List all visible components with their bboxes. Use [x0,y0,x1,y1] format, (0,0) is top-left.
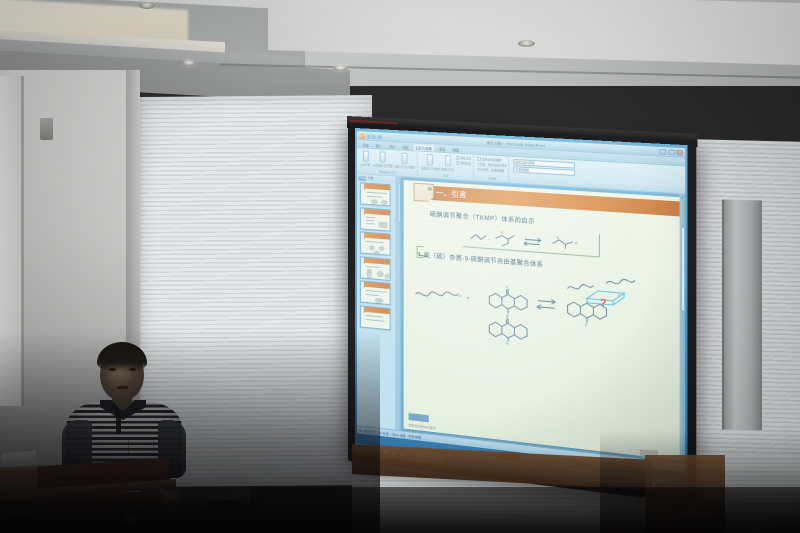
rehearse-timings-icon [456,156,460,160]
svg-text:R: R [557,235,559,239]
powerpoint-window[interactable]: 演示文稿1 - Microsoft PowerPoint 开始 插入 设计 动画… [357,131,685,472]
record-narration-icon [456,161,460,165]
rehearse-timings-item[interactable]: 排练计时 [456,156,471,161]
from-current-slide-icon[interactable] [379,151,385,162]
group-name-monitors: 监视器 [488,176,496,181]
tab-design[interactable]: 设计 [386,143,397,150]
powerpoint-body: 幻灯片 大纲 [357,174,685,463]
slide-subtitle: 硫酮调节聚合（TKMP）体系的启示 [430,209,535,226]
slide-stage[interactable]: 一、引言 硫酮调节聚合（TKMP）体系的启示 + R [401,177,686,463]
tab-view[interactable]: 视图 [450,146,462,153]
presenter-mouth [117,386,128,389]
slide-thumbnail-panel[interactable]: 幻灯片 大纲 [357,174,397,430]
conference-room-scene: 演示文稿1 - Microsoft PowerPoint 开始 插入 设计 动画… [0,0,800,533]
presenter-hair [97,342,147,372]
wall-pillar-edge [21,76,24,406]
tab-slideshow[interactable]: 幻灯片放映 [413,144,434,151]
ceiling-panel [268,0,800,66]
slide-footer-placeholder [409,413,429,422]
language-label: 中文(中国) [408,434,421,440]
slide-title-tag-shape [414,183,434,203]
setup-slideshow-label: 设置幻灯片放映 [421,165,439,170]
spot-light-icon [518,40,535,47]
rehearse-timings-label: 排练计时 [460,156,471,161]
svg-text:O: O [585,322,588,327]
setup-options-list[interactable]: 排练计时 录制旁白 [456,155,471,166]
undo-icon[interactable] [372,134,376,138]
display-on-label: 显示位置：主要监视器 [477,167,504,173]
reaction-scheme-main: R + S O [412,259,655,361]
presenter-view-checkbox-icon[interactable] [477,157,481,161]
display-on-item[interactable]: 显示位置：主要监视器 [477,167,507,173]
spot-light-icon [182,60,196,66]
slide-thumbnail[interactable] [360,305,391,330]
tab-animations[interactable]: 动画 [400,143,411,150]
thumbnail-list[interactable] [357,180,396,430]
slide-title-dot-icon [428,187,432,191]
foreground-shadow-left [0,500,260,533]
window-title: 演示文稿1 - Microsoft PowerPoint [486,139,545,147]
quick-access-toolbar[interactable] [359,133,381,140]
svg-text:R: R [459,294,461,298]
presenter-eye-left [109,368,116,371]
record-narration-label: 录制旁白 [460,161,471,166]
ribbon-group-setup: 设置幻灯片放映 隐藏幻灯片 排练计时 [420,153,474,180]
hide-slide-label: 隐藏幻灯片 [441,167,454,172]
projection-screen: 演示文稿1 - Microsoft PowerPoint 开始 插入 设计 动画… [355,128,687,495]
presenter-eye-right [129,368,136,371]
ribbon-group-start-slideshow: 从头开始 从当前幻灯片开始 自定义幻灯片放映 开始放映幻灯片 [359,149,418,176]
wall-column-right [722,199,762,430]
monitor-fields[interactable]: 使用当前分辨率 主要监视器 [513,158,575,176]
scroll-up-icon[interactable] [680,196,682,198]
maximize-button[interactable] [668,149,675,155]
redo-icon[interactable] [377,135,381,139]
slide-thumbnail[interactable] [360,231,391,255]
svg-text:S: S [506,285,508,289]
current-slide[interactable]: 一、引言 硫酮调节聚合（TKMP）体系的启示 + R [404,180,680,460]
hide-slide-icon[interactable] [445,155,451,167]
question-mark-annotation: ? [600,297,607,309]
slide-thumbnail[interactable] [360,280,391,305]
presenter [66,346,182,476]
custom-slideshow-icon[interactable] [402,153,408,164]
slide-thumbnail[interactable] [360,182,391,206]
tab-insert[interactable]: 插入 [373,142,384,149]
slide-thumbnail[interactable] [360,207,391,231]
group-name-setup: 设置 [443,173,448,177]
group-name-start-slideshow: 开始放映幻灯片 [379,169,396,174]
spot-light-icon [333,65,348,71]
slide-scrollbar[interactable] [680,194,686,463]
setup-slideshow-icon[interactable] [427,154,433,166]
ribbon-group-monitors: 使用演示者视图 分辨率：使用当前分辨率 显示位置：主要监视器 监视器 [476,156,510,182]
presenter-placket [116,410,121,434]
slide-footer-text: 原位化剂或共引发剂 [409,423,436,430]
close-button[interactable] [676,149,683,155]
theme-label: Office 主题 [392,432,406,438]
svg-text:R: R [575,241,577,245]
wall-vent [40,118,53,140]
save-icon[interactable] [366,134,370,138]
custom-slideshow-label: 自定义幻灯片放映 [394,164,415,169]
tab-review[interactable]: 审阅 [436,145,448,152]
from-beginning-icon[interactable] [363,150,369,161]
tab-home[interactable]: 开始 [360,141,371,148]
office-orb-icon[interactable] [359,133,365,139]
record-narration-item[interactable]: 录制旁白 [456,161,471,166]
slide-title: 一、引言 [436,188,467,200]
svg-text:+: + [467,297,470,302]
monitor-options-list[interactable]: 使用演示者视图 分辨率：使用当前分辨率 显示位置：主要监视器 [477,156,507,173]
svg-text:+: + [488,237,490,241]
window-controls[interactable] [659,149,683,156]
from-current-slide-label: 从当前幻灯片开始 [372,163,393,168]
presenter-pocket [128,438,154,456]
slide-thumbnail[interactable] [360,256,391,281]
spot-light-icon [139,2,155,9]
svg-text:R: R [501,230,503,234]
minimize-button[interactable] [659,149,666,155]
svg-text:S: S [506,314,508,318]
wall-pillar [0,76,22,406]
foreground-shadow [250,487,800,533]
tab-outline[interactable]: 大纲 [368,176,373,180]
from-beginning-label: 从头开始 [360,162,370,167]
slide-scrollbar-handle[interactable] [680,226,685,312]
ribbon-group-fields: 使用当前分辨率 主要监视器 [512,158,577,186]
svg-text:O: O [506,341,509,345]
